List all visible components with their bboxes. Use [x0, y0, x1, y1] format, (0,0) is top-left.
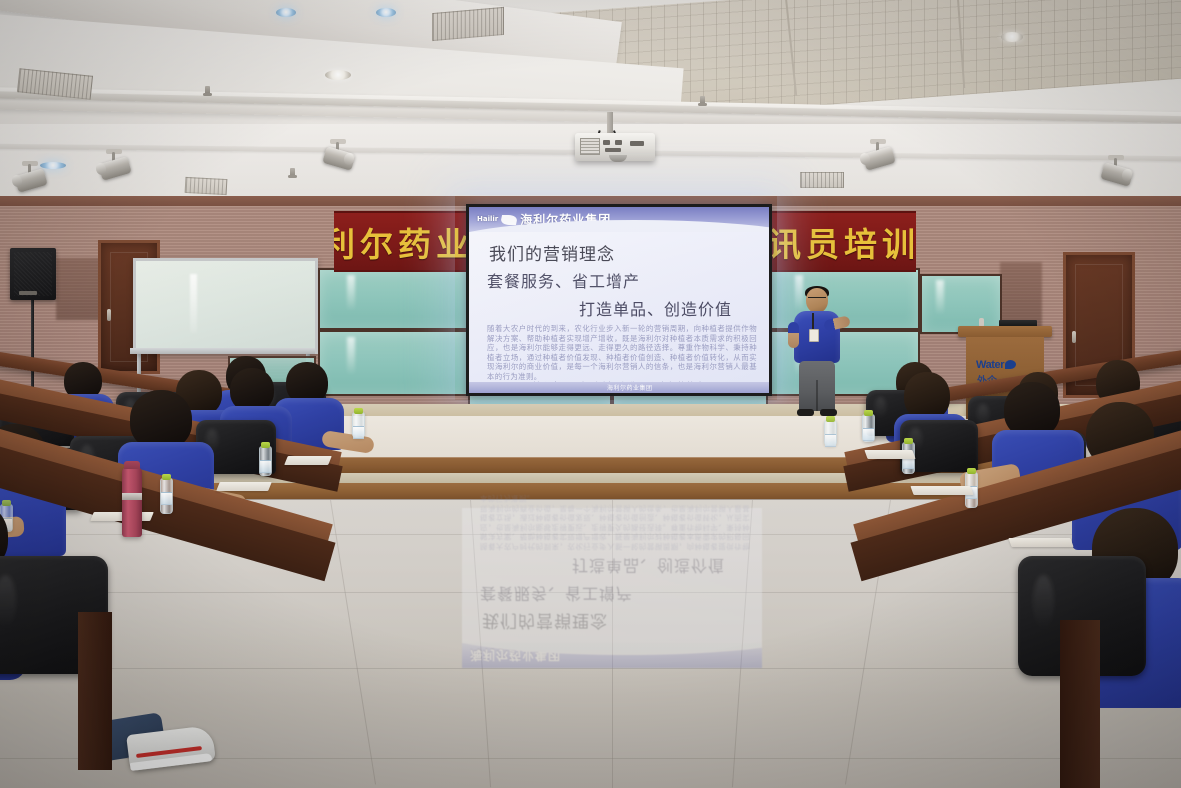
whiteboard-glare: [190, 274, 197, 333]
attendee-head: [904, 372, 950, 420]
air-vent: [185, 177, 228, 195]
wall-shadow-patch: [1000, 262, 1042, 328]
ceiling-downlight: [325, 70, 351, 80]
notebook: [284, 456, 332, 465]
sprinkler-head: [205, 86, 210, 95]
sprinkler-head: [700, 96, 705, 105]
track-spotlight: [12, 164, 52, 194]
logo-latin-text: Hailir: [477, 216, 498, 223]
banner-right: 讯员培训班: [766, 211, 916, 272]
glass-glare: [347, 337, 355, 375]
presenter-shoe: [797, 409, 814, 416]
logo-swoosh-icon: [500, 215, 518, 225]
projector-control: [603, 140, 610, 145]
training-room-photo: 海利尔药业 讯员培训班 Hailir 海利尔药业集团 我们的营销理念 套餐服务、…: [0, 0, 1181, 788]
floor-tile-line: [0, 668, 1181, 669]
glass-panel-wall-left: [318, 330, 470, 396]
projection-screen: Hailir 海利尔药业集团 我们的营销理念 套餐服务、省工增产 打造单品、创造…: [466, 204, 772, 396]
slide-header-bar: Hailir 海利尔药业集团: [469, 207, 769, 232]
bottle-label: [161, 492, 172, 505]
slide-tagline: 打造单品、创造价值: [579, 296, 732, 320]
thermos-flask: [122, 467, 142, 537]
bottle-label: [825, 434, 836, 447]
track-spotlight: [860, 142, 900, 172]
sprinkler-head: [290, 168, 295, 177]
slide-paragraph: 随着大农户时代的到来，农化行业步入新一轮的营销周期，向种植者提供作物解决方案、帮…: [487, 324, 757, 382]
projector-control: [630, 141, 644, 146]
glass-panel-wall-far-right: [920, 274, 1002, 334]
glass-glare: [936, 280, 944, 315]
bottle-cap: [967, 468, 976, 474]
presenter-leg-split: [816, 380, 818, 411]
water-bottle: [259, 446, 272, 476]
thermos-cap: [124, 461, 140, 469]
podium-brand-latin: Water: [976, 359, 1016, 371]
ceiling: [0, 0, 1181, 215]
notebook: [1008, 538, 1073, 547]
projector-vent: [580, 138, 600, 155]
pa-speaker: [10, 248, 56, 300]
ceiling-downlight: [276, 8, 296, 17]
ceiling-downlight: [1001, 32, 1023, 42]
bottle-cap: [162, 474, 171, 480]
bottle-label: [260, 460, 271, 473]
door-handle-icon: [107, 309, 111, 321]
presenter-left-arm: [788, 322, 799, 348]
presentation-slide: Hailir 海利尔药业集团 我们的营销理念 套餐服务、省工增产 打造单品、创造…: [469, 207, 769, 393]
projector-control: [615, 140, 622, 145]
floor-tile-line: [0, 592, 1181, 593]
door-handle-icon: [1072, 331, 1076, 343]
projector-control: [605, 148, 621, 152]
water-bottle: [352, 412, 365, 438]
slide-footer-bar: 海利尔药业集团: [469, 382, 769, 393]
podium-top: [958, 326, 1052, 337]
company-logo: Hailir 海利尔药业集团: [477, 211, 611, 228]
bottle-cap: [354, 408, 363, 414]
company-name-text: 海利尔药业集团: [520, 211, 611, 228]
floor-tile-line: [330, 500, 376, 785]
floor-tile-line: [470, 500, 491, 787]
slide-title: 我们的营销理念: [489, 240, 615, 265]
glass-glare: [347, 275, 355, 311]
presenter-id-badge: [809, 329, 819, 342]
track-spotlight: [96, 152, 136, 182]
speaker-stand: [31, 298, 34, 390]
presenter-glasses: [808, 297, 826, 302]
slide-subtitle: 套餐服务、省工增产: [487, 268, 640, 292]
thermos-band: [122, 493, 142, 500]
presenter-shoe: [820, 409, 837, 416]
floor-tile-line: [732, 500, 753, 787]
notebook: [910, 486, 973, 495]
slide-footer-brand: 海利尔药业集团: [607, 383, 653, 392]
track-spotlight: [320, 142, 360, 172]
speaker-badge: [19, 291, 37, 295]
whiteboard[interactable]: [133, 258, 318, 354]
bottle-cap: [826, 416, 835, 422]
podium-brand-dot-icon: [1005, 360, 1016, 369]
bottle-cap: [904, 438, 913, 444]
ceiling-projector: [575, 133, 655, 161]
projector-lens: [609, 155, 627, 162]
bottle-label: [863, 428, 874, 441]
track-spotlight: [1098, 158, 1138, 188]
slide-body: 我们的营销理念 套餐服务、省工增产 打造单品、创造价值 随着大农户时代的到来，农…: [469, 232, 769, 393]
presenter: [784, 288, 852, 418]
bottle-cap: [2, 500, 11, 506]
bottle-label: [353, 426, 364, 439]
table-leg-left: [78, 612, 112, 770]
banner-right-text: 讯员培训班: [768, 218, 916, 266]
ceiling-downlight: [376, 8, 396, 17]
banner-left-text: 海利尔药业: [334, 218, 474, 266]
table-leg-right: [1060, 620, 1100, 788]
speaker-grille: [14, 252, 52, 296]
banner-left: 海利尔药业: [334, 211, 476, 272]
floor-tile-line: [612, 500, 613, 788]
water-bottle: [160, 478, 173, 514]
attendee-head: [130, 390, 192, 450]
glass-panel-wall-left: [318, 268, 470, 330]
air-vent: [800, 172, 844, 188]
notebook: [216, 482, 272, 491]
presenter-lanyard: [812, 313, 814, 330]
bottle-cap: [864, 410, 873, 416]
notebook: [864, 450, 915, 459]
whiteboard-tray: [130, 348, 315, 354]
bottle-cap: [261, 442, 270, 448]
water-bottle: [862, 414, 875, 442]
water-bottle: [824, 420, 837, 446]
